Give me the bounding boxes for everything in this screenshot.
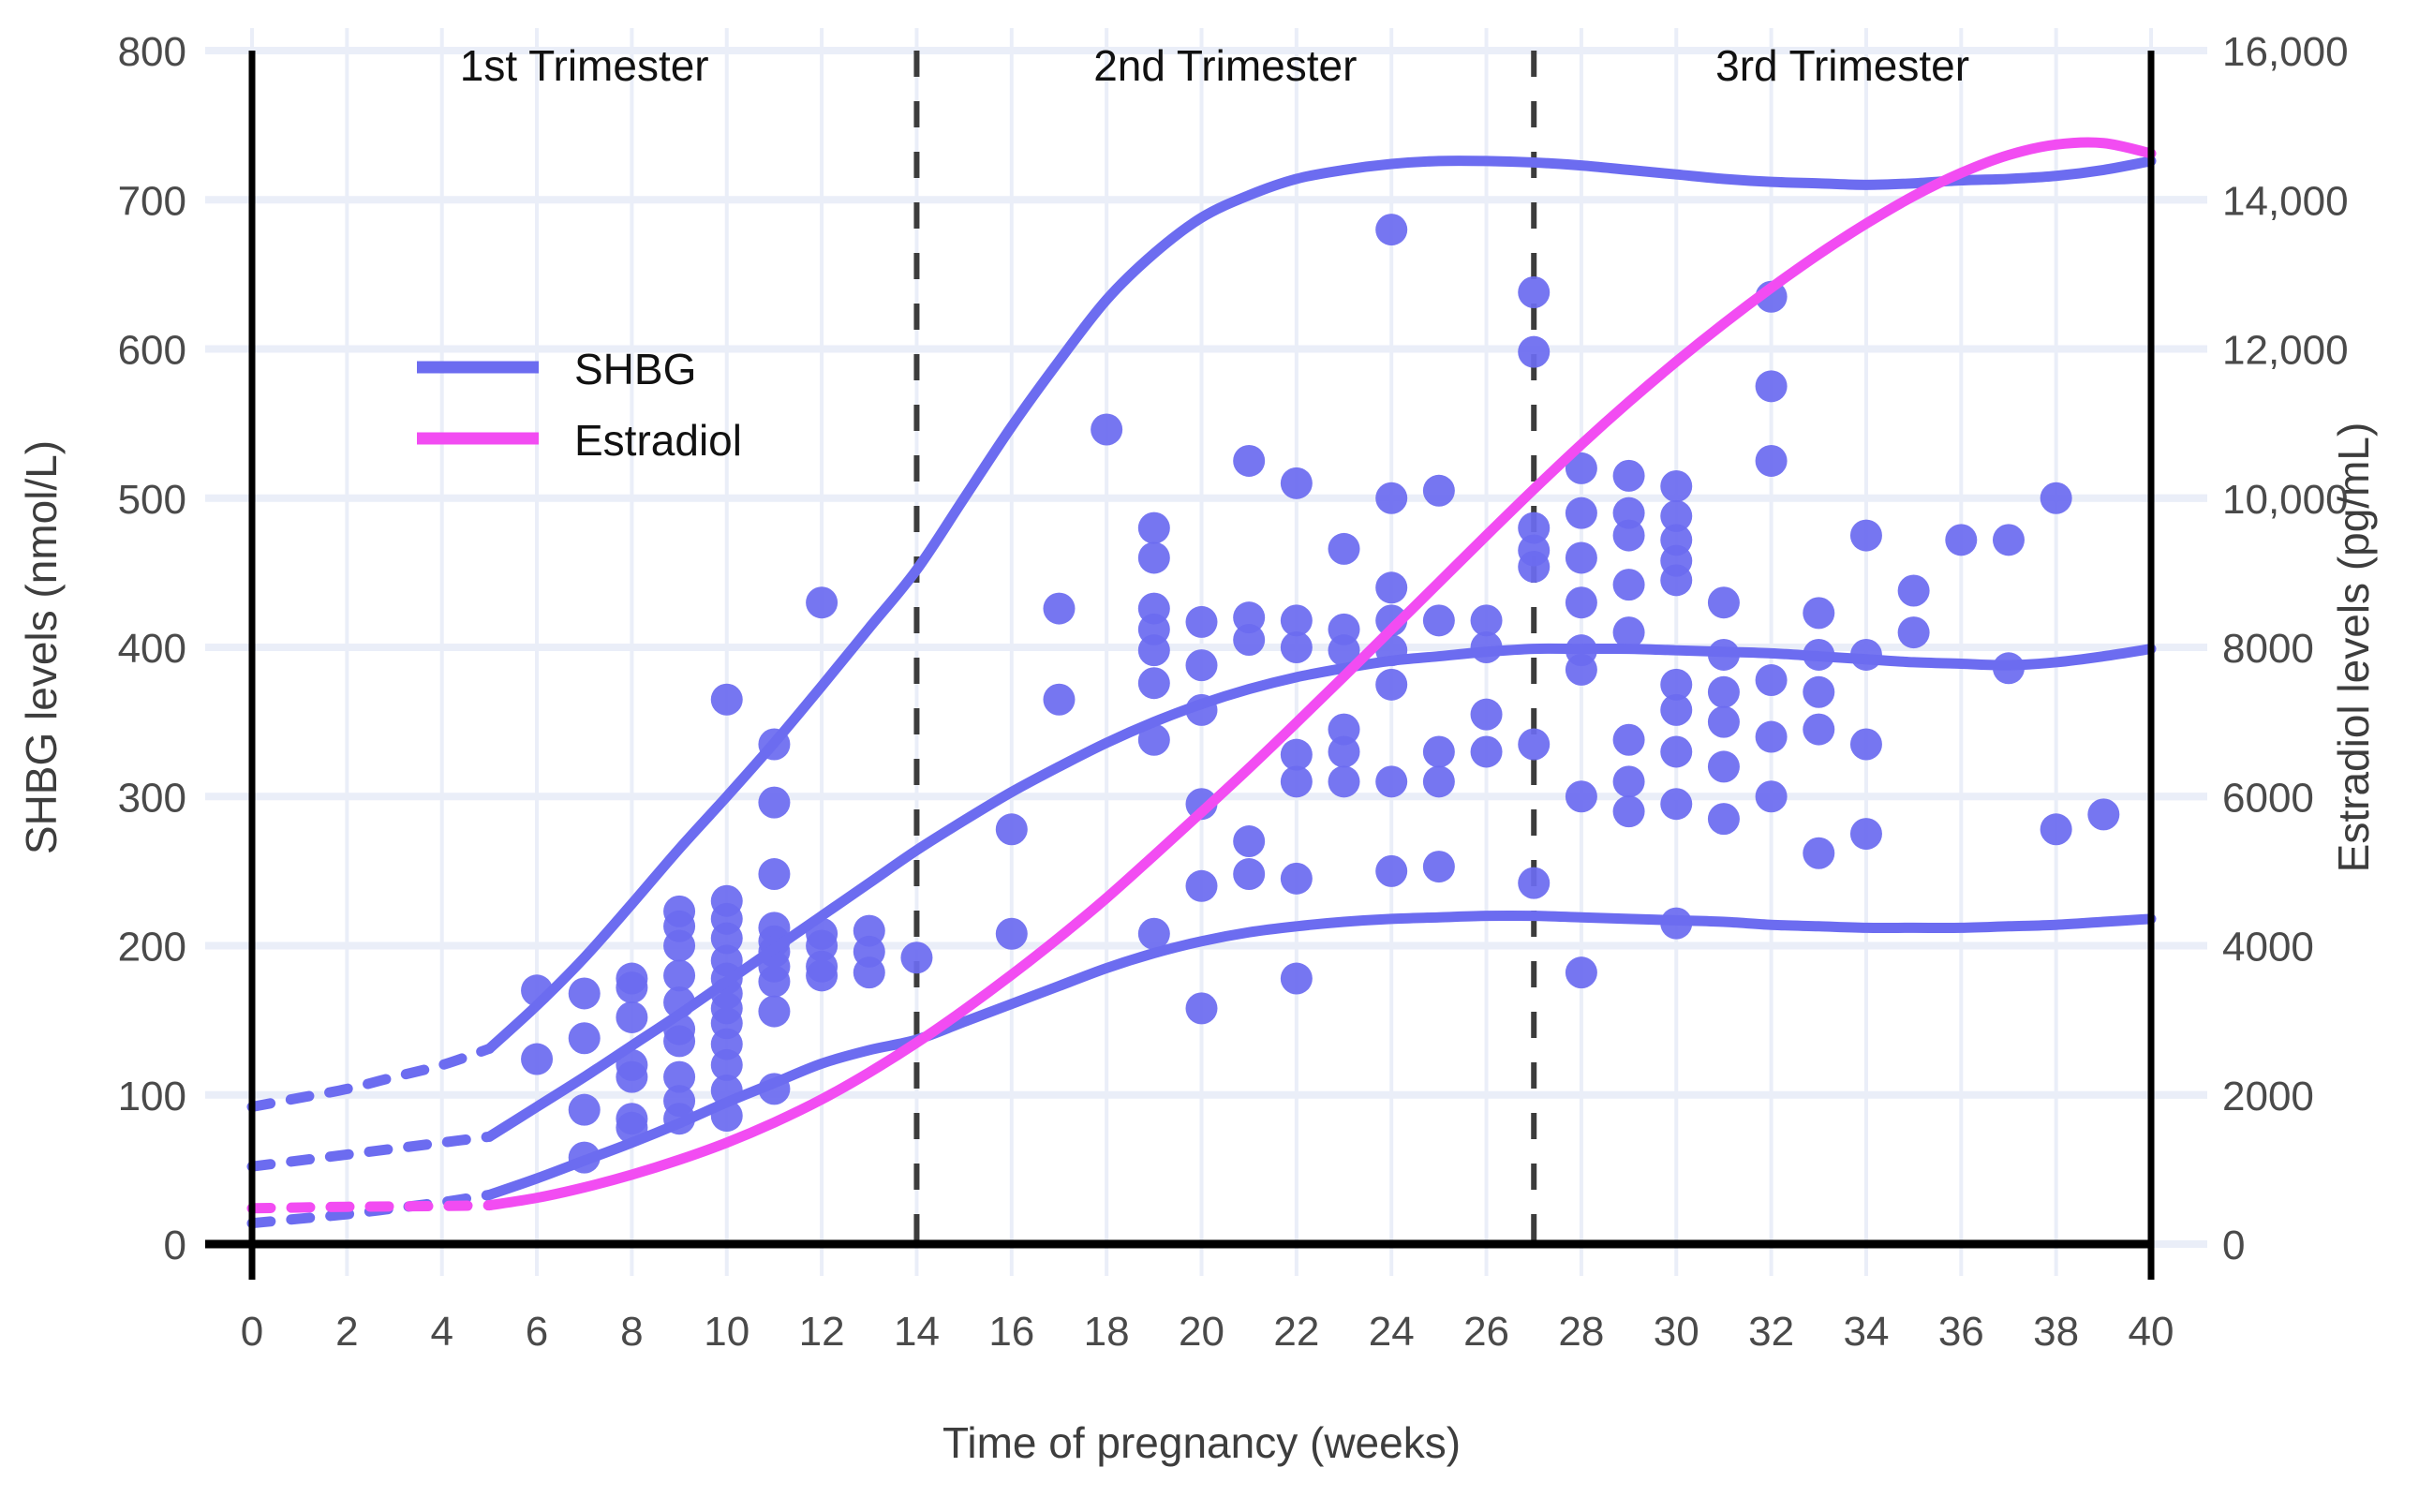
scatter-point xyxy=(1233,624,1265,656)
scatter-point xyxy=(1281,765,1313,797)
scatter-point xyxy=(1803,676,1834,708)
scatter-point xyxy=(806,959,838,991)
scatter-point xyxy=(1566,497,1597,529)
chart-svg: 0246810121416182022242628303234363840010… xyxy=(0,0,2419,1512)
x-tick-label: 18 xyxy=(1084,1309,1130,1355)
trimester-annotations-layer: 1st Trimester2nd Trimester3rd Trimester xyxy=(460,41,1969,90)
x-tick-label: 40 xyxy=(2129,1309,2174,1355)
x-tick-label: 20 xyxy=(1179,1309,1224,1355)
scatter-point xyxy=(1328,533,1360,565)
x-tick-label: 6 xyxy=(526,1309,548,1355)
scatter-point xyxy=(2041,482,2072,514)
scatter-point xyxy=(1613,616,1645,648)
x-tick-label: 12 xyxy=(799,1309,845,1355)
scatter-point xyxy=(1613,724,1645,756)
y-tick-label-left: 300 xyxy=(118,775,186,821)
scatter-point xyxy=(1708,676,1740,708)
scatter-point xyxy=(1708,586,1740,618)
x-tick-label: 22 xyxy=(1273,1309,1319,1355)
scatter-point xyxy=(1328,735,1360,767)
scatter-point xyxy=(1375,482,1407,514)
scatter-point xyxy=(569,977,601,1009)
scatter-point xyxy=(1043,684,1075,716)
scatter-point xyxy=(1423,604,1455,636)
x-tick-label: 38 xyxy=(2033,1309,2079,1355)
scatter-point xyxy=(663,1025,695,1057)
scatter-point xyxy=(758,858,790,890)
x-tick-label: 2 xyxy=(335,1309,358,1355)
y-tick-label-left: 200 xyxy=(118,925,186,971)
trimester-annotation: 2nd Trimester xyxy=(1093,41,1357,90)
scatter-point xyxy=(1756,370,1788,402)
scatter-point xyxy=(1898,616,1930,648)
y-axis-title-right: Estradiol levels (pg/mL) xyxy=(2329,422,2378,873)
scatter-point xyxy=(1138,512,1170,544)
scatter-point xyxy=(1328,765,1360,797)
scatter-point xyxy=(1471,699,1503,731)
x-tick-label: 0 xyxy=(241,1309,263,1355)
y-axis-title-left: SHBG levels (nmol/L) xyxy=(17,440,66,854)
x-tick-label: 14 xyxy=(894,1309,940,1355)
y-tick-label-right: 0 xyxy=(2222,1223,2245,1268)
scatter-point xyxy=(1423,851,1455,882)
scatter-point xyxy=(1518,729,1550,761)
scatter-point xyxy=(1660,694,1692,726)
scatter-point xyxy=(1423,765,1455,797)
scatter-point xyxy=(1518,276,1550,308)
scatter-point xyxy=(1803,597,1834,629)
trimester-annotation: 3rd Trimester xyxy=(1715,41,1969,90)
scatter-point xyxy=(616,1061,647,1093)
scatter-point xyxy=(1375,214,1407,245)
scatter-point xyxy=(1708,750,1740,782)
scatter-point xyxy=(1375,669,1407,701)
series-line-dashed-estradiol xyxy=(252,1206,489,1208)
scatter-point xyxy=(1803,714,1834,746)
scatter-point xyxy=(711,684,743,716)
y-tick-label-right: 8000 xyxy=(2222,626,2314,672)
scatter-point xyxy=(758,966,790,998)
x-tick-label: 10 xyxy=(704,1309,749,1355)
y-tick-label-right: 4000 xyxy=(2222,925,2314,971)
scatter-point xyxy=(1660,788,1692,820)
scatter-point xyxy=(1423,735,1455,767)
scatter-point xyxy=(1708,803,1740,835)
scatter-point xyxy=(616,971,647,1003)
x-tick-label: 4 xyxy=(430,1309,453,1355)
scatter-point xyxy=(1091,413,1122,445)
chart-container: 0246810121416182022242628303234363840010… xyxy=(0,0,2419,1512)
y-tick-label-right: 12,000 xyxy=(2222,328,2349,374)
scatter-point xyxy=(1756,780,1788,812)
scatter-point xyxy=(1138,634,1170,666)
x-axis-title: Time of pregnancy (weeks) xyxy=(942,1418,1461,1467)
scatter-point xyxy=(1186,606,1218,638)
scatter-point xyxy=(1518,336,1550,368)
x-tick-label: 28 xyxy=(1558,1309,1604,1355)
legend[interactable]: SHBGEstradiol xyxy=(417,345,742,465)
scatter-point xyxy=(1613,569,1645,600)
scatter-point xyxy=(1043,593,1075,625)
scatter-point xyxy=(1566,586,1597,618)
scatter-point xyxy=(2041,813,2072,845)
y-tick-label-right: 2000 xyxy=(2222,1074,2314,1119)
y-tick-label-right: 6000 xyxy=(2222,775,2314,821)
scatter-point xyxy=(569,1094,601,1126)
scatter-point xyxy=(996,918,1028,950)
scatter-point xyxy=(1660,735,1692,767)
scatter-point xyxy=(1850,729,1882,761)
x-tick-label: 34 xyxy=(1843,1309,1889,1355)
scatter-point xyxy=(1613,765,1645,797)
x-tick-label: 16 xyxy=(988,1309,1034,1355)
y-tick-label-left: 100 xyxy=(118,1074,186,1119)
scatter-point xyxy=(758,787,790,819)
scatter-point xyxy=(1850,818,1882,850)
scatter-point xyxy=(1233,858,1265,890)
y-tick-label-left: 800 xyxy=(118,29,186,75)
scatter-point xyxy=(2087,798,2119,830)
scatter-point xyxy=(1138,541,1170,573)
scatter-point xyxy=(1518,867,1550,899)
scatter-point xyxy=(1233,445,1265,477)
scatter-point xyxy=(1233,825,1265,857)
scatter-point xyxy=(1566,780,1597,812)
y-tick-label-right: 14,000 xyxy=(2222,178,2349,224)
trimester-annotation: 1st Trimester xyxy=(460,41,709,90)
y-tick-label-left: 600 xyxy=(118,328,186,374)
scatter-point xyxy=(996,813,1028,845)
scatter-point xyxy=(1756,721,1788,753)
x-tick-label: 24 xyxy=(1369,1309,1415,1355)
scatter-point xyxy=(1423,475,1455,507)
scatter-point xyxy=(616,1001,647,1033)
x-tick-label: 8 xyxy=(620,1309,643,1355)
scatter-point xyxy=(1138,667,1170,699)
scatter-point xyxy=(758,996,790,1028)
scatter-point xyxy=(1660,564,1692,596)
scatter-point xyxy=(1756,445,1788,477)
scatter-point xyxy=(1898,574,1930,606)
scatter-point xyxy=(1186,992,1218,1024)
scatter-point xyxy=(1613,520,1645,552)
scatter-point xyxy=(1186,649,1218,681)
y-tick-label-right: 16,000 xyxy=(2222,29,2349,75)
scatter-point xyxy=(663,930,695,962)
scatter-point xyxy=(1281,631,1313,663)
scatter-point xyxy=(1850,520,1882,552)
scatter-point xyxy=(1281,963,1313,995)
scatter-point xyxy=(1281,467,1313,499)
scatter-point xyxy=(1613,460,1645,492)
scatter-point xyxy=(1281,863,1313,895)
scatter-point xyxy=(1375,571,1407,603)
scatter-point xyxy=(1613,795,1645,827)
scatter-point xyxy=(900,941,932,973)
legend-label-shbg[interactable]: SHBG xyxy=(574,345,696,393)
x-tick-label: 26 xyxy=(1463,1309,1509,1355)
scatter-point xyxy=(1518,551,1550,583)
y-tick-label-left: 500 xyxy=(118,477,186,523)
y-tick-label-left: 400 xyxy=(118,626,186,672)
legend-label-estradiol[interactable]: Estradiol xyxy=(574,416,742,465)
x-tick-label: 32 xyxy=(1748,1309,1794,1355)
scatter-point xyxy=(1803,838,1834,869)
scatter-point xyxy=(569,1022,601,1054)
y-tick-label-left: 0 xyxy=(164,1223,186,1268)
x-tick-label: 36 xyxy=(1938,1309,1984,1355)
scatter-point xyxy=(1186,870,1218,902)
scatter-point xyxy=(1471,735,1503,767)
scatter-point xyxy=(1375,765,1407,797)
x-tick-label: 30 xyxy=(1654,1309,1699,1355)
scatter-point xyxy=(1756,664,1788,696)
scatter-point xyxy=(1708,706,1740,738)
scatter-point xyxy=(853,956,885,988)
y-tick-label-left: 700 xyxy=(118,178,186,224)
scatter-point xyxy=(1566,956,1597,988)
scatter-point xyxy=(1566,541,1597,573)
scatter-point xyxy=(1993,524,2025,556)
scatter-point xyxy=(1945,524,1977,556)
series-line-dashed-shbg-median xyxy=(252,1136,489,1166)
scatter-point xyxy=(521,1044,553,1075)
scatter-point xyxy=(1566,654,1597,686)
scatter-point xyxy=(1375,855,1407,887)
scatter-point xyxy=(806,586,838,618)
scatter-point xyxy=(1660,470,1692,502)
